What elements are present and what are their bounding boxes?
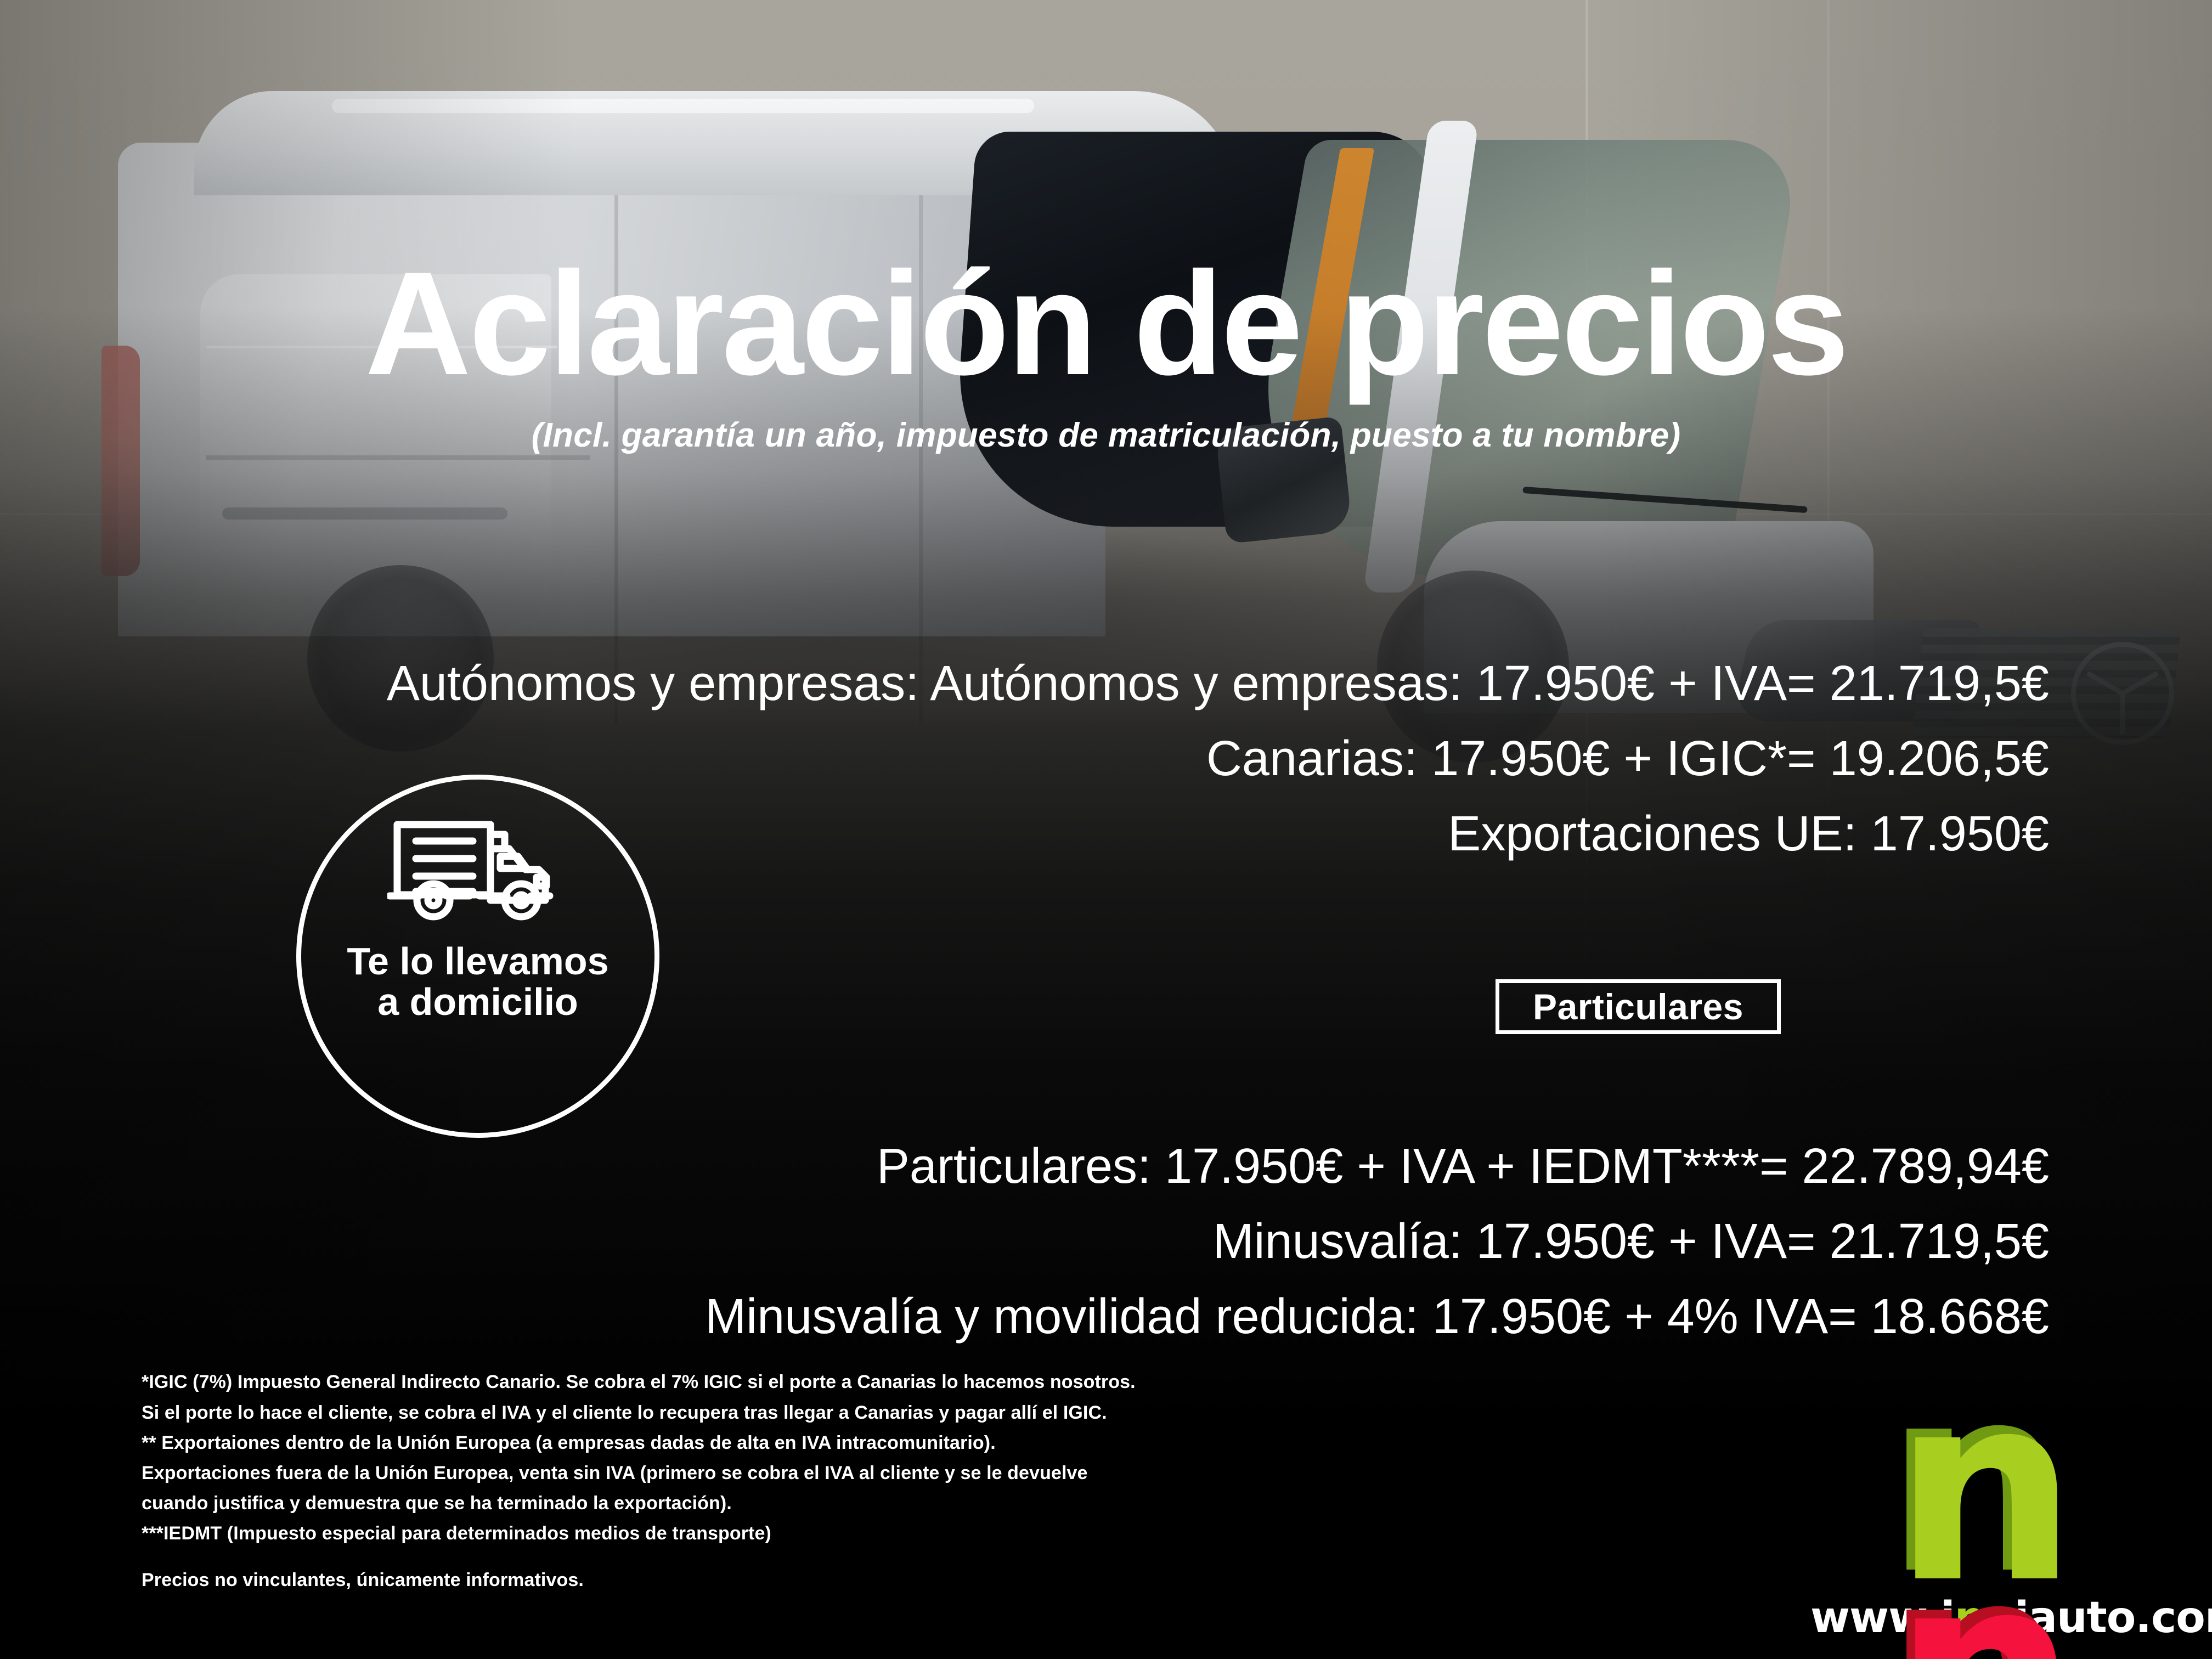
footnotes-block: *IGIC (7%) Impuesto General Indirecto Ca… bbox=[142, 1367, 1136, 1595]
delivery-badge-text: Te lo llevamos a domicilio bbox=[347, 941, 608, 1022]
price-line-particulares: Particulares: 17.950€ + IVA + IEDMT****=… bbox=[705, 1129, 2049, 1204]
delivery-line-1: Te lo llevamos bbox=[347, 940, 608, 983]
business-price-list: Autónomos y empresas: Autónomos y empres… bbox=[387, 646, 2049, 871]
delivery-truck-icon bbox=[387, 808, 568, 929]
page-title: Aclaración de precios bbox=[0, 250, 2212, 397]
footnote-disclaimer: Precios no vinculantes, únicamente infor… bbox=[142, 1565, 1136, 1595]
particulares-label-text: Particulares bbox=[1533, 986, 1743, 1028]
price-line-canarias: Canarias: 17.950€ + IGIC*= 19.206,5€ bbox=[387, 721, 2049, 797]
footnote-line: Exportaciones fuera de la Unión Europea,… bbox=[142, 1458, 1136, 1488]
logo-marks: nn bbox=[1810, 1399, 2151, 1591]
home-delivery-badge: Te lo llevamos a domicilio bbox=[296, 775, 659, 1138]
price-line-minusvalia: Minusvalía: 17.950€ + IVA= 21.719,5€ bbox=[705, 1204, 2049, 1279]
footnote-line: cuando justifica y demuestra que se ha t… bbox=[142, 1488, 1136, 1519]
price-clarification-poster: Aclaración de precios (Incl. garantía un… bbox=[0, 0, 2212, 1659]
footnote-line: ***IEDMT (Impuesto especial para determi… bbox=[142, 1519, 1136, 1549]
footnote-line: Si el porte lo hace el cliente, se cobra… bbox=[142, 1398, 1136, 1428]
footnote-line: *IGIC (7%) Impuesto General Indirecto Ca… bbox=[142, 1367, 1136, 1397]
price-line-autonomos: Autónomos y empresas: Autónomos y empres… bbox=[387, 646, 2049, 721]
price-line-exportaciones: Exportaciones UE: 17.950€ bbox=[387, 797, 2049, 872]
logo-n-red: n bbox=[1894, 1580, 2068, 1659]
footnote-line: ** Exportaiones dentro de la Unión Europ… bbox=[142, 1428, 1136, 1458]
page-subtitle: (Incl. garantía un año, impuesto de matr… bbox=[0, 416, 2212, 455]
delivery-line-2: a domicilio bbox=[347, 981, 608, 1022]
inniauto-logo[interactable]: nn www.inniauto.com bbox=[1810, 1399, 2151, 1643]
particulares-section-label: Particulares bbox=[1496, 979, 1781, 1034]
private-price-list: Particulares: 17.950€ + IVA + IEDMT****=… bbox=[705, 1129, 2049, 1354]
price-line-minusvalia-movilidad: Minusvalía y movilidad reducida: 17.950€… bbox=[705, 1279, 2049, 1355]
